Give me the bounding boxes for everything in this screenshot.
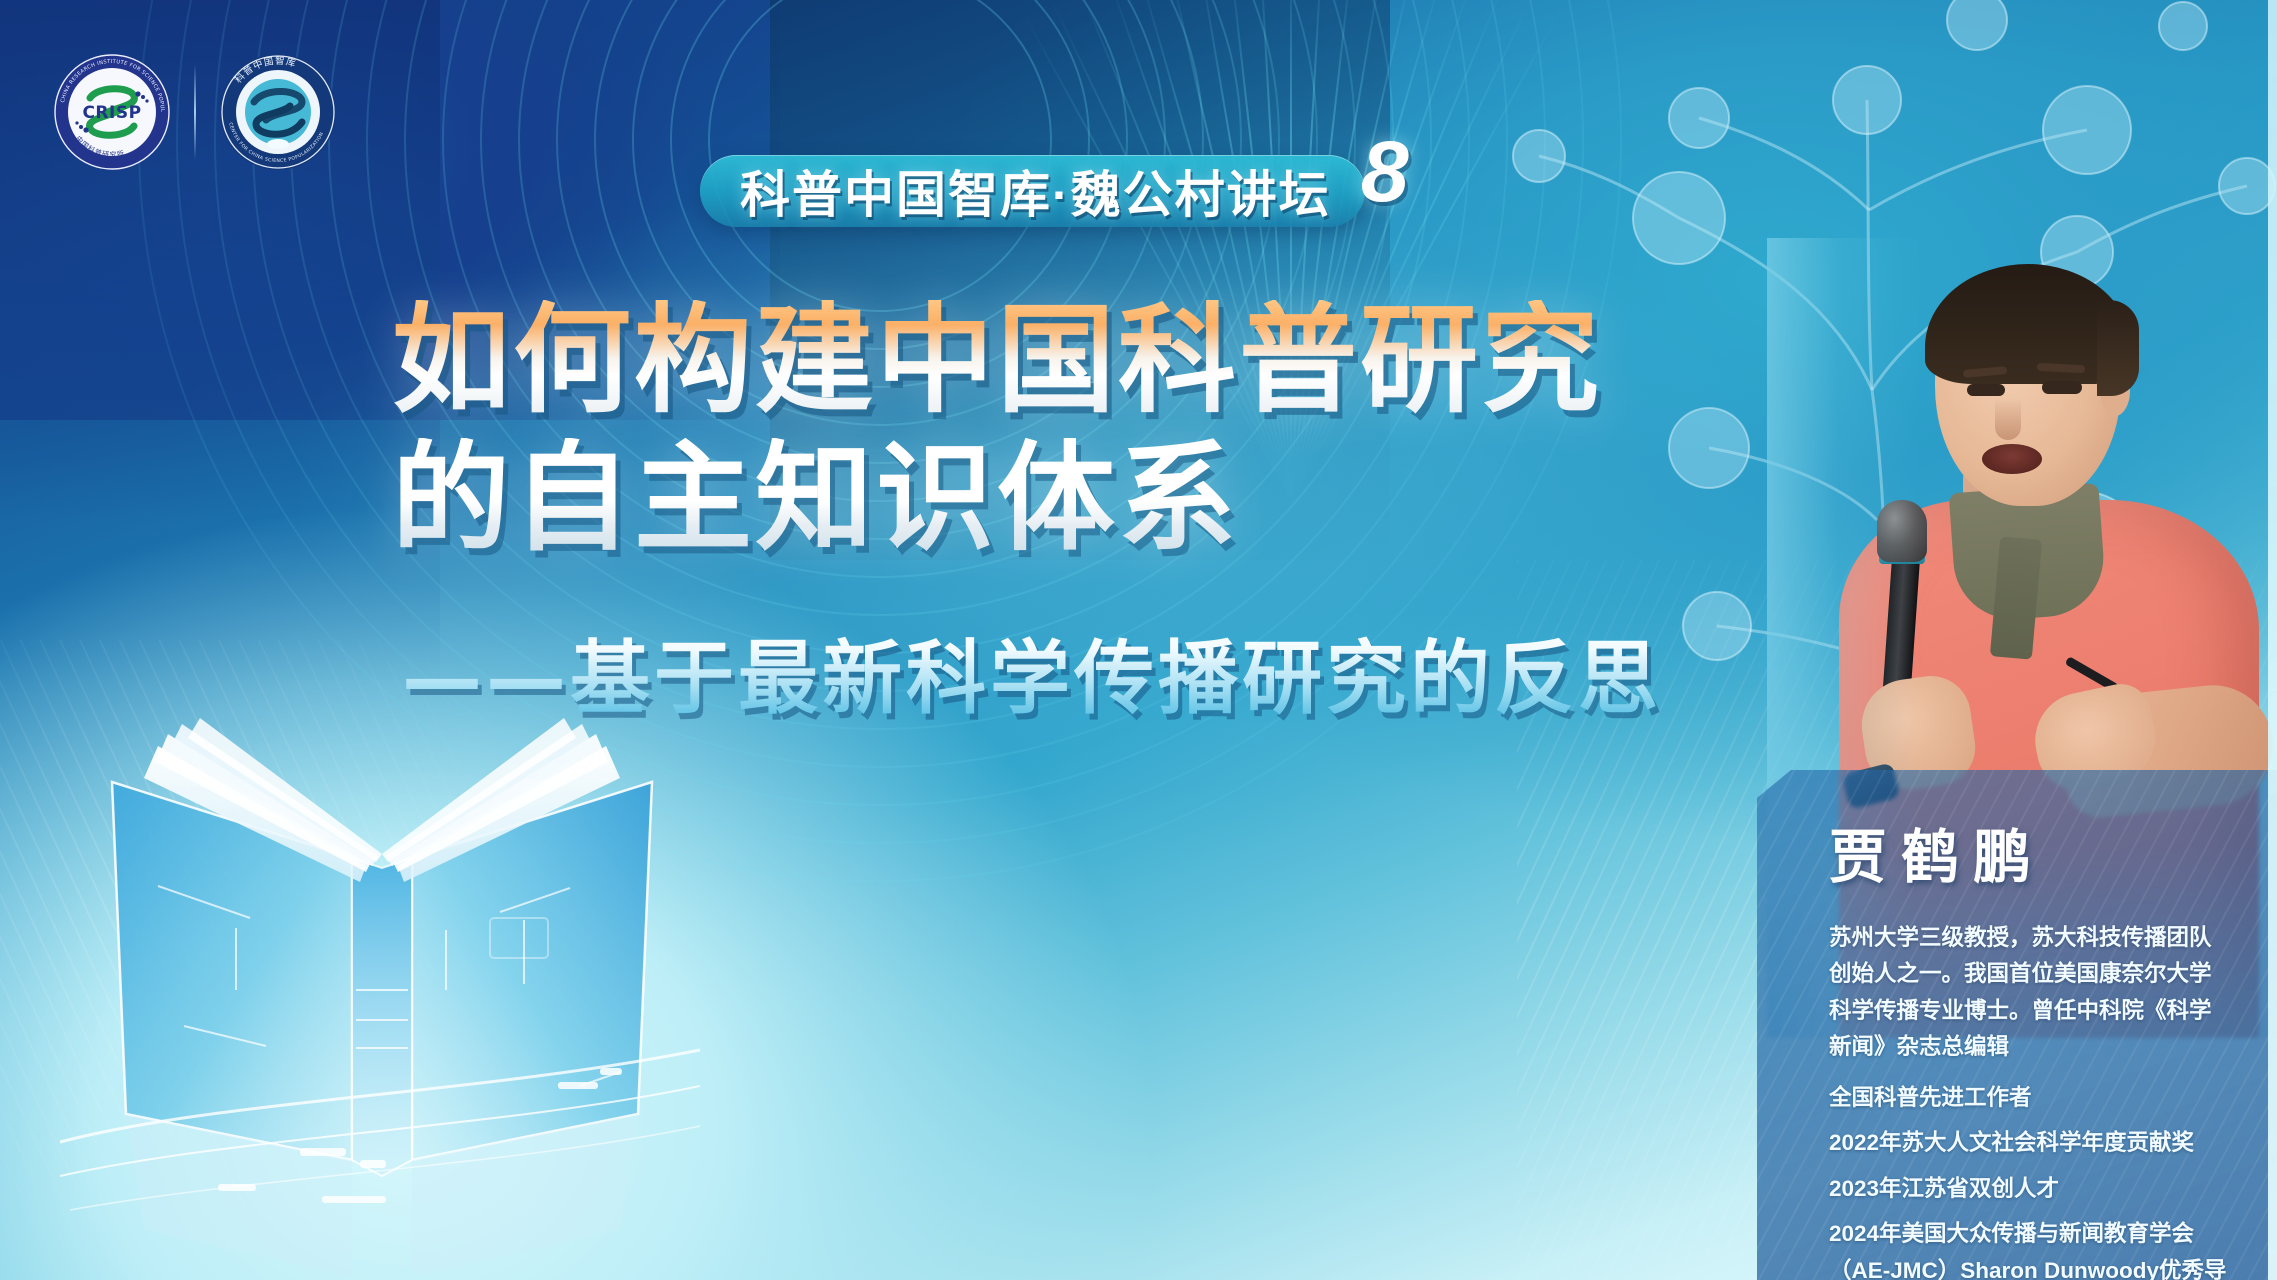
forum-banner: 科普中国智库·魏公村讲坛 8: [700, 155, 1365, 227]
forum-banner-text: 科普中国智库·魏公村讲坛: [740, 155, 1331, 227]
speaker-bio: 苏州大学三级教授，苏大科技传播团队创始人之一。我国首位美国康奈尔大学科学传播专业…: [1829, 920, 2233, 1066]
microphone-icon: [1877, 500, 1927, 562]
logo-group: CRISP CHINA RESEARCH INSTITUTE FOR SCIEN…: [52, 52, 338, 172]
speaker-nose: [1995, 398, 2021, 440]
crisp-logo: CRISP CHINA RESEARCH INSTITUTE FOR SCIEN…: [52, 52, 172, 172]
ccsp-logo: 科普中国智库 CENTER FOR CHINA SCIENCE POPULARI…: [218, 52, 338, 172]
title-line-1: 如何构建中国科普研究: [392, 300, 1602, 422]
poster-title: 如何构建中国科普研究 的自主知识体系: [392, 300, 1602, 559]
speaker-mouth: [1982, 444, 2042, 474]
speaker-award-item: 2022年苏大人文社会科学年度贡献奖: [1829, 1125, 2233, 1161]
speaker-award-item: 2024年美国大众传播与新闻教育学会（AE-JMC）Sharon Dunwood…: [1829, 1216, 2233, 1280]
speaker-award-item: 2023年江苏省双创人才: [1829, 1171, 2233, 1207]
event-poster: CRISP CHINA RESEARCH INSTITUTE FOR SCIEN…: [0, 0, 2277, 1280]
right-edge-strip: [2268, 0, 2277, 1280]
speaker-award-item: 全国科普先进工作者: [1829, 1080, 2233, 1116]
speaker-eye-right: [2042, 381, 2082, 394]
speaker-awards-list: 全国科普先进工作者2022年苏大人文社会科学年度贡献奖2023年江苏省双创人才2…: [1829, 1080, 2233, 1280]
forum-episode-number: 8: [1361, 129, 1409, 215]
speaker-eye-left: [1967, 384, 2005, 396]
speaker-info-panel: 贾鹤鹏 苏州大学三级教授，苏大科技传播团队创始人之一。我国首位美国康奈尔大学科学…: [1757, 770, 2277, 1280]
speaker-name: 贾鹤鹏: [1829, 810, 2233, 894]
open-book-illustration: [60, 690, 700, 1280]
logo-divider: [194, 64, 196, 160]
svg-text:CRISP: CRISP: [82, 103, 141, 123]
speaker-sideburn: [2097, 300, 2139, 396]
title-line-2: 的自主知识体系: [392, 438, 1602, 560]
